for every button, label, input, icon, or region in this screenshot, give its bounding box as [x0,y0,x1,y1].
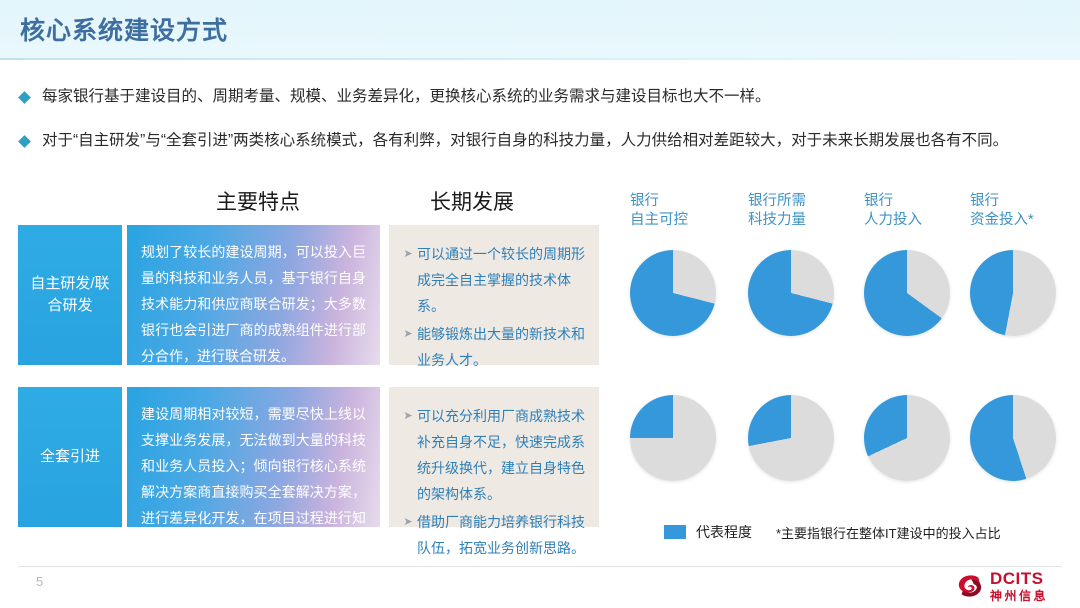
list-item-text: 可以通过一个较长的周期形成完全自主掌握的技术体系。 [417,241,585,319]
dcits-swirl-icon [955,571,985,601]
diamond-bullet-icon [18,91,31,104]
pie-column-title: 银行自主可控 [630,192,688,230]
pie-column-title-line1: 银行 [630,192,688,211]
bullet-item: 对于“自主研发”与“全套引进”两类核心系统模式，各有利弊，对银行自身的科技力量，… [20,131,1008,151]
pie-chart [748,395,834,481]
legend-swatch [664,525,686,539]
pie-chart [970,250,1056,336]
pie-column-title-line1: 银行所需 [748,192,806,211]
pie-column-title: 银行所需科技力量 [748,192,806,230]
row-features-self-developed: 规划了较长的建设周期，可以投入巨量的科技和业务人员，基于银行自身技术能力和供应商… [127,225,380,365]
list-item-text: 能够锻炼出大量的新技术和业务人才。 [417,321,585,373]
pie-chart [970,395,1056,481]
logo-text-cn: 神州信息 [990,590,1048,602]
chart-legend: 代表程度 [664,522,752,542]
list-item-text: 可以充分利用厂商成熟技术补充自身不足，快速完成系统升级换代，建立自身特色的架构体… [417,403,585,507]
list-item: ➤ 能够锻炼出大量的新技术和业务人才。 [399,321,585,373]
row-label-full-procurement: 全套引进 [18,387,122,527]
column-title-longterm: 长期发展 [430,186,514,216]
page-number: 5 [36,574,43,589]
footer-divider [18,566,1062,567]
bullet-text: 对于“自主研发”与“全套引进”两类核心系统模式，各有利弊，对银行自身的科技力量，… [42,131,1008,151]
bullet-item: 每家银行基于建设目的、周期考量、规模、业务差异化，更换核心系统的业务需求与建设目… [20,87,771,107]
arrow-right-icon: ➤ [399,509,417,535]
diamond-bullet-icon [18,135,31,148]
pie-chart [748,250,834,336]
arrow-right-icon: ➤ [399,241,417,267]
arrow-right-icon: ➤ [399,403,417,429]
company-logo: DCITS 神州信息 [955,570,1048,602]
row-longterm-full-procurement: ➤ 可以充分利用厂商成熟技术补充自身不足，快速完成系统升级换代，建立自身特色的架… [389,387,599,527]
legend-label: 代表程度 [696,522,752,542]
page-title: 核心系统建设方式 [20,11,228,47]
pie-column-title: 银行资金投入* [970,192,1034,230]
pie-chart [630,395,716,481]
list-item: ➤ 借助厂商能力培养银行科技队伍，拓宽业务创新思路。 [399,509,585,561]
row-longterm-self-developed: ➤ 可以通过一个较长的周期形成完全自主掌握的技术体系。 ➤ 能够锻炼出大量的新技… [389,225,599,365]
list-item: ➤ 可以充分利用厂商成熟技术补充自身不足，快速完成系统升级换代，建立自身特色的架… [399,403,585,507]
pie-chart [864,395,950,481]
slide: 核心系统建设方式 每家银行基于建设目的、周期考量、规模、业务差异化，更换核心系统… [0,0,1080,608]
logo-text-en: DCITS [990,570,1048,587]
pie-column-title-line2: 科技力量 [748,211,806,230]
header-underline [0,58,1080,60]
pie-chart [864,250,950,336]
list-item: ➤ 可以通过一个较长的周期形成完全自主掌握的技术体系。 [399,241,585,319]
pie-column-title: 银行人力投入 [864,192,922,230]
pie-column-title-line2: 人力投入 [864,211,922,230]
pie-column-title-line1: 银行 [970,192,1034,211]
logo-text: DCITS 神州信息 [990,570,1048,602]
bullet-text: 每家银行基于建设目的、周期考量、规模、业务差异化，更换核心系统的业务需求与建设目… [42,87,771,107]
pie-chart [630,250,716,336]
pie-column-title-line2: 自主可控 [630,211,688,230]
chart-footnote: *主要指银行在整体IT建设中的投入占比 [776,523,1001,542]
column-title-features: 主要特点 [216,186,300,216]
pie-column-title-line1: 银行 [864,192,922,211]
row-features-full-procurement: 建设周期相对较短，需要尽快上线以支撑业务发展，无法做到大量的科技和业务人员投入；… [127,387,380,527]
row-label-self-developed: 自主研发/联合研发 [18,225,122,365]
pie-column-title-line2: 资金投入* [970,211,1034,230]
list-item-text: 借助厂商能力培养银行科技队伍，拓宽业务创新思路。 [417,509,585,561]
arrow-right-icon: ➤ [399,321,417,347]
